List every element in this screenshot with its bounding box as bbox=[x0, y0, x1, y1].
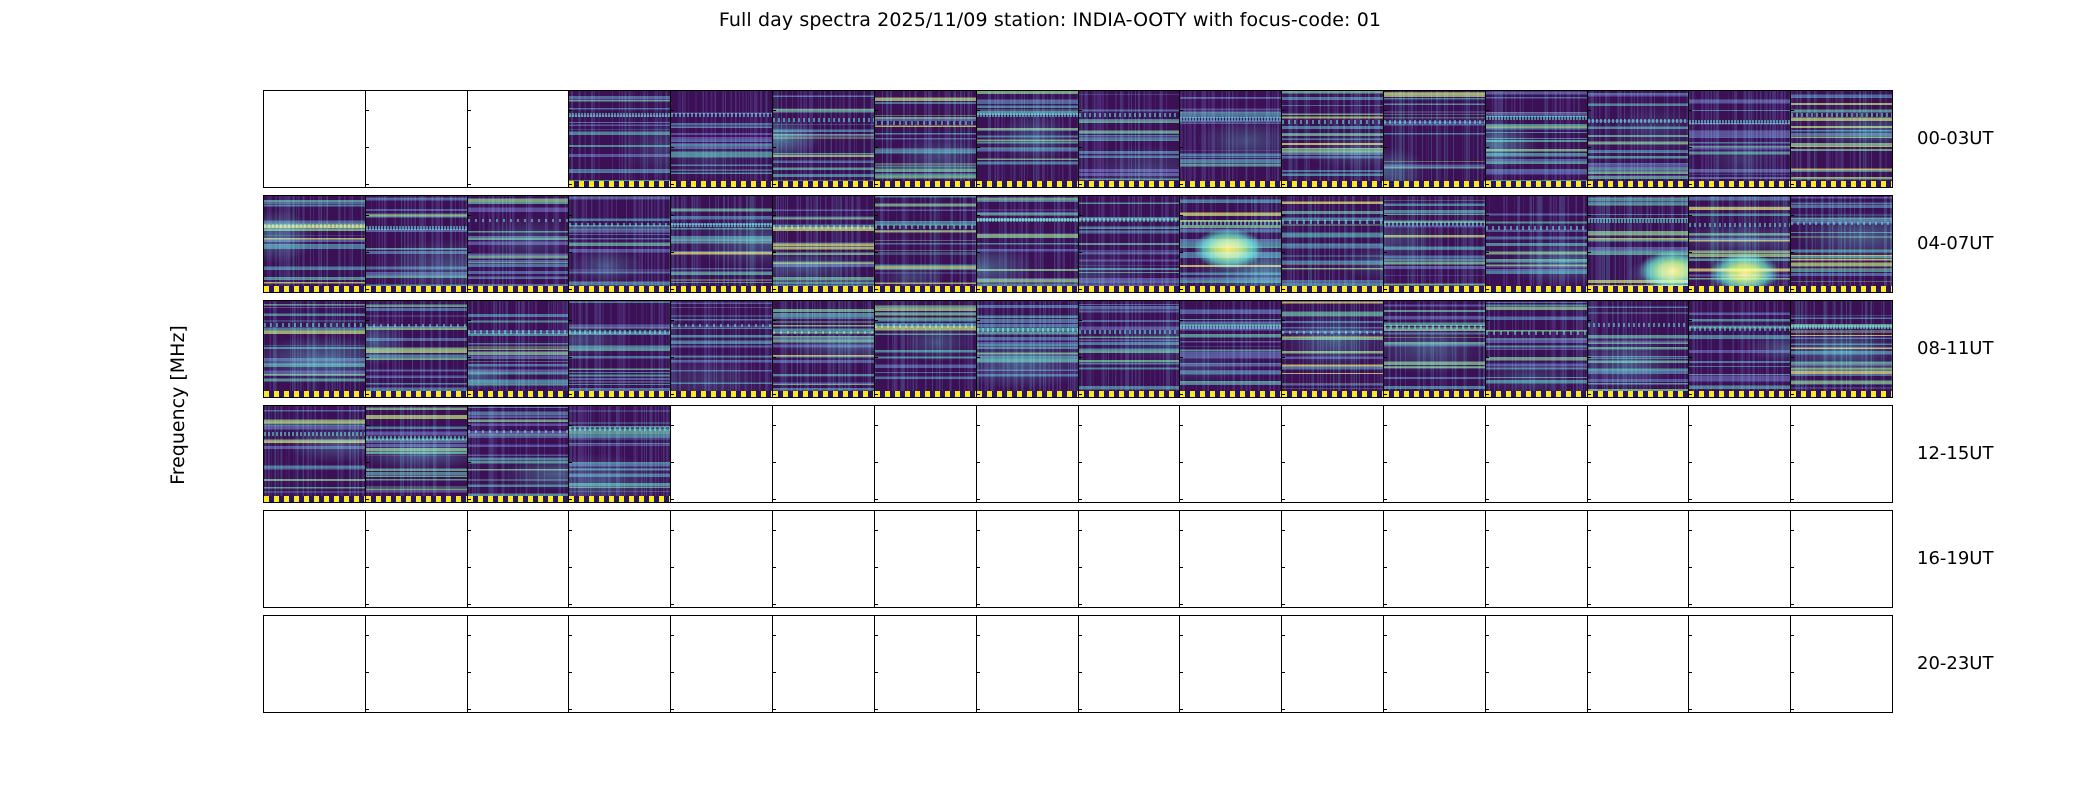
y-axis-tick bbox=[568, 394, 572, 395]
spectrogram-panel[interactable] bbox=[1281, 405, 1383, 503]
spectrogram-panel[interactable] bbox=[1688, 510, 1790, 608]
y-axis-tick bbox=[874, 462, 878, 463]
spectrogram-panel[interactable] bbox=[976, 300, 1078, 398]
spectrogram-panel[interactable] bbox=[1281, 195, 1383, 293]
y-axis-tick bbox=[1179, 394, 1183, 395]
row-time-range-label: 16-19UT bbox=[1917, 548, 1993, 569]
spectrogram-image bbox=[1384, 301, 1485, 397]
spectrogram-panel[interactable]: 45 bbox=[1790, 615, 1893, 713]
spectrogram-panel[interactable] bbox=[1383, 90, 1485, 188]
spectrogram-image bbox=[468, 406, 569, 502]
y-axis-tick bbox=[1587, 672, 1591, 673]
spectrogram-image bbox=[1689, 196, 1790, 292]
spectrogram-panel[interactable] bbox=[874, 195, 976, 293]
x-axis-tick bbox=[773, 607, 774, 608]
spectrogram-image bbox=[1384, 91, 1485, 187]
spectrogram-panel[interactable]: 45 bbox=[1383, 615, 1485, 713]
spectrogram-panel[interactable] bbox=[670, 510, 772, 608]
spectrogram-panel[interactable] bbox=[1179, 405, 1281, 503]
spectrogram-panel[interactable]: 15010050 bbox=[263, 90, 365, 188]
y-axis-tick bbox=[874, 147, 878, 148]
spectrogram-panel[interactable] bbox=[1485, 300, 1587, 398]
spectrogram-panel[interactable] bbox=[467, 300, 569, 398]
y-axis-tick bbox=[772, 499, 776, 500]
y-axis-tick bbox=[1790, 462, 1794, 463]
spectrogram-panel[interactable] bbox=[1383, 195, 1485, 293]
y-axis-tick bbox=[568, 289, 572, 290]
spectrogram-panel[interactable] bbox=[772, 510, 874, 608]
spectrogram-panel[interactable] bbox=[976, 195, 1078, 293]
y-axis-tick bbox=[1587, 215, 1591, 216]
spectrogram-panel[interactable] bbox=[1688, 195, 1790, 293]
spectrogram-panel[interactable] bbox=[1078, 405, 1180, 503]
y-axis-tick bbox=[1383, 184, 1387, 185]
x-axis-tick bbox=[1689, 397, 1690, 398]
x-axis-tick bbox=[671, 187, 672, 188]
spectrogram-panel[interactable] bbox=[365, 195, 467, 293]
y-axis-tick bbox=[1688, 394, 1692, 395]
spectrogram-row-08-11ut: 15010050 bbox=[263, 300, 1893, 398]
y-axis-tick bbox=[1281, 462, 1285, 463]
spectrogram-panel[interactable] bbox=[467, 405, 569, 503]
x-axis-tick bbox=[1486, 187, 1487, 188]
x-axis-tick: 00 bbox=[1486, 712, 1487, 713]
saturated-baseline-strip bbox=[1282, 391, 1383, 397]
y-axis-tick bbox=[1485, 567, 1489, 568]
y-axis-tick bbox=[1179, 604, 1183, 605]
y-axis-tick bbox=[1790, 672, 1794, 673]
spectrogram-panel[interactable]: 15010050 bbox=[263, 405, 365, 503]
y-axis-tick: 150 bbox=[263, 320, 264, 321]
y-axis-tick bbox=[1790, 110, 1794, 111]
y-axis-tick bbox=[568, 709, 572, 710]
y-axis-tick bbox=[1587, 320, 1591, 321]
y-axis-tick bbox=[365, 289, 369, 290]
spectrogram-image bbox=[773, 196, 874, 292]
y-axis-tick bbox=[1281, 672, 1285, 673]
y-axis-tick bbox=[1688, 530, 1692, 531]
y-axis-tick bbox=[772, 184, 776, 185]
y-axis-tick bbox=[467, 394, 471, 395]
spectrogram-panel[interactable] bbox=[568, 405, 670, 503]
saturated-baseline-strip bbox=[671, 286, 772, 292]
y-axis-tick bbox=[1078, 252, 1082, 253]
spectrogram-panel[interactable] bbox=[1281, 510, 1383, 608]
x-axis-tick: 00 bbox=[671, 712, 672, 713]
saturated-baseline-strip bbox=[569, 391, 670, 397]
x-axis-tick bbox=[875, 292, 876, 293]
y-axis-tick bbox=[1485, 394, 1489, 395]
spectrogram-panel[interactable] bbox=[772, 300, 874, 398]
spectrogram-panel[interactable] bbox=[1587, 300, 1689, 398]
spectrogram-panel[interactable] bbox=[365, 300, 467, 398]
y-axis-tick bbox=[1790, 604, 1794, 605]
spectrogram-panel[interactable]: 15 bbox=[1587, 615, 1689, 713]
spectrogram-image bbox=[1180, 196, 1281, 292]
spectrogram-panel[interactable] bbox=[1485, 405, 1587, 503]
spectrogram-panel[interactable] bbox=[1485, 510, 1587, 608]
spectrogram-panel[interactable] bbox=[1078, 300, 1180, 398]
y-axis-tick bbox=[467, 147, 471, 148]
x-axis-tick bbox=[773, 187, 774, 188]
y-axis-tick bbox=[467, 110, 471, 111]
saturated-baseline-strip bbox=[569, 496, 670, 502]
x-axis-tick bbox=[569, 187, 570, 188]
y-axis-tick bbox=[670, 499, 674, 500]
x-axis-tick bbox=[1384, 607, 1385, 608]
saturated-baseline-strip bbox=[671, 181, 772, 187]
y-axis-tick: 150 bbox=[263, 215, 264, 216]
panel-strip: 15010050 bbox=[263, 90, 1893, 188]
y-axis-tick bbox=[976, 567, 980, 568]
y-axis-tick bbox=[976, 357, 980, 358]
x-axis-tick bbox=[1689, 607, 1690, 608]
spectrogram-panel[interactable]: 15010050 bbox=[263, 300, 365, 398]
spectrogram-panel[interactable] bbox=[1281, 300, 1383, 398]
y-axis-tick bbox=[1383, 672, 1387, 673]
y-axis-tick bbox=[976, 672, 980, 673]
y-axis-tick bbox=[976, 635, 980, 636]
row-time-range-label: 20-23UT bbox=[1917, 653, 1993, 674]
y-axis-tick bbox=[772, 567, 776, 568]
spectrogram-panel[interactable]: 45 bbox=[976, 615, 1078, 713]
x-axis-tick: 30 bbox=[875, 712, 876, 713]
spectrogram-panel[interactable] bbox=[874, 405, 976, 503]
spectrogram-panel[interactable]: 15010050 bbox=[263, 195, 365, 293]
saturated-baseline-strip bbox=[977, 286, 1078, 292]
spectrogram-panel[interactable] bbox=[1587, 405, 1689, 503]
row-time-range-label: 12-15UT bbox=[1917, 443, 1993, 464]
spectrogram-panel[interactable] bbox=[874, 90, 976, 188]
spectrogram-panel[interactable] bbox=[976, 510, 1078, 608]
y-axis-tick: 100 bbox=[263, 147, 264, 148]
y-axis-tick bbox=[772, 147, 776, 148]
y-axis-tick bbox=[1281, 635, 1285, 636]
spectrogram-image bbox=[1791, 91, 1892, 187]
spectrogram-panel[interactable] bbox=[467, 195, 569, 293]
spectrogram-panel[interactable] bbox=[670, 300, 772, 398]
y-axis-tick bbox=[670, 357, 674, 358]
spectrogram-panel[interactable] bbox=[772, 195, 874, 293]
spectrogram-panel[interactable] bbox=[874, 300, 976, 398]
spectrogram-panel[interactable] bbox=[1587, 510, 1689, 608]
y-axis-tick bbox=[976, 147, 980, 148]
spectrogram-row-16-19ut: 15010050 bbox=[263, 510, 1893, 608]
spectrogram-panel[interactable] bbox=[1179, 510, 1281, 608]
spectrogram-panel[interactable] bbox=[670, 195, 772, 293]
y-axis-tick: 50 bbox=[263, 604, 264, 605]
spectrogram-panel[interactable]: 15 bbox=[772, 615, 874, 713]
spectrogram-panel[interactable] bbox=[1281, 90, 1383, 188]
x-axis-tick bbox=[1588, 607, 1589, 608]
spectrogram-panel[interactable]: 15010050 bbox=[263, 510, 365, 608]
spectrogram-panel[interactable]: 30 bbox=[467, 615, 569, 713]
y-axis-tick bbox=[1383, 357, 1387, 358]
spectrogram-panel[interactable]: 30 bbox=[874, 615, 976, 713]
x-axis-tick bbox=[468, 292, 469, 293]
y-axis-tick bbox=[1485, 320, 1489, 321]
y-axis-tick bbox=[1383, 320, 1387, 321]
spectrogram-panel[interactable] bbox=[1587, 195, 1689, 293]
x-axis-tick bbox=[1384, 502, 1385, 503]
spectrogram-panel[interactable] bbox=[976, 405, 1078, 503]
y-axis-tick bbox=[976, 394, 980, 395]
spectrogram-panel[interactable] bbox=[365, 405, 467, 503]
y-axis-tick bbox=[976, 462, 980, 463]
y-axis-tick bbox=[568, 604, 572, 605]
y-axis-tick bbox=[1485, 184, 1489, 185]
spectrogram-image bbox=[773, 301, 874, 397]
y-axis-tick bbox=[1587, 394, 1591, 395]
row-time-range-label: 04-07UT bbox=[1917, 233, 1993, 254]
spectrogram-image bbox=[671, 301, 772, 397]
y-axis-tick bbox=[1587, 635, 1591, 636]
x-axis-tick bbox=[1282, 607, 1283, 608]
saturated-baseline-strip bbox=[977, 181, 1078, 187]
x-axis-tick bbox=[977, 292, 978, 293]
spectrogram-panel[interactable]: 00 bbox=[670, 615, 772, 713]
y-axis-tick bbox=[1790, 252, 1794, 253]
panel-strip: 1501005000153045001530450015304500153045 bbox=[263, 615, 1893, 713]
spectrogram-image bbox=[1588, 91, 1689, 187]
y-axis-tick bbox=[568, 147, 572, 148]
x-axis-tick bbox=[264, 607, 265, 608]
y-axis-tick bbox=[467, 289, 471, 290]
y-axis-tick bbox=[1281, 252, 1285, 253]
y-axis-tick bbox=[1078, 394, 1082, 395]
y-axis-tick: 50 bbox=[263, 394, 264, 395]
x-axis-tick bbox=[264, 502, 265, 503]
y-axis-tick bbox=[670, 215, 674, 216]
y-axis-tick bbox=[1485, 147, 1489, 148]
y-axis-tick bbox=[1179, 184, 1183, 185]
spectrogram-panel[interactable] bbox=[772, 90, 874, 188]
spectrogram-panel[interactable] bbox=[1485, 90, 1587, 188]
x-axis-tick bbox=[671, 607, 672, 608]
spectrogram-image bbox=[468, 301, 569, 397]
x-axis-tick bbox=[1282, 187, 1283, 188]
x-axis-tick bbox=[671, 292, 672, 293]
y-axis-tick bbox=[772, 320, 776, 321]
y-axis-tick bbox=[1485, 635, 1489, 636]
spectrogram-image bbox=[468, 196, 569, 292]
spectrogram-panel[interactable] bbox=[568, 90, 670, 188]
spectrogram-panel[interactable] bbox=[1587, 90, 1689, 188]
spectrogram-panel[interactable] bbox=[1790, 90, 1893, 188]
spectrogram-panel[interactable] bbox=[568, 195, 670, 293]
y-axis-tick bbox=[568, 462, 572, 463]
x-axis-tick bbox=[1384, 292, 1385, 293]
y-axis-tick: 150 bbox=[263, 110, 264, 111]
spectrogram-panel[interactable] bbox=[1790, 510, 1893, 608]
x-axis-tick bbox=[1689, 502, 1690, 503]
y-axis-tick bbox=[976, 110, 980, 111]
spectrogram-image bbox=[264, 196, 365, 292]
x-axis-tick bbox=[569, 397, 570, 398]
saturated-baseline-strip bbox=[1079, 391, 1180, 397]
spectrogram-panel[interactable] bbox=[1078, 90, 1180, 188]
spectrogram-panel[interactable] bbox=[365, 510, 467, 608]
y-axis-tick bbox=[670, 394, 674, 395]
y-axis-tick bbox=[1688, 215, 1692, 216]
x-axis-tick bbox=[1282, 292, 1283, 293]
saturated-baseline-strip bbox=[1588, 391, 1689, 397]
y-axis-tick bbox=[670, 604, 674, 605]
y-axis-tick bbox=[365, 709, 369, 710]
spectrogram-image bbox=[1486, 301, 1587, 397]
y-axis-tick bbox=[874, 252, 878, 253]
x-axis-tick bbox=[671, 397, 672, 398]
y-axis-tick bbox=[1485, 357, 1489, 358]
spectrogram-panel[interactable] bbox=[670, 90, 772, 188]
saturated-baseline-strip bbox=[773, 181, 874, 187]
spectrogram-image bbox=[1791, 301, 1892, 397]
spectrogram-panel[interactable] bbox=[1790, 195, 1893, 293]
x-axis-tick bbox=[366, 397, 367, 398]
y-axis-tick bbox=[772, 357, 776, 358]
x-axis-tick bbox=[977, 397, 978, 398]
x-axis-tick: 15 bbox=[1180, 712, 1181, 713]
saturated-baseline-strip bbox=[1791, 286, 1892, 292]
y-axis-tick bbox=[1281, 425, 1285, 426]
y-axis-tick bbox=[1688, 147, 1692, 148]
y-axis-tick bbox=[467, 184, 471, 185]
spectrogram-panel[interactable] bbox=[1383, 300, 1485, 398]
spectrogram-panel[interactable] bbox=[1078, 510, 1180, 608]
saturated-baseline-strip bbox=[1384, 391, 1485, 397]
y-axis-tick bbox=[1281, 147, 1285, 148]
saturated-baseline-strip bbox=[1282, 286, 1383, 292]
y-axis-tick bbox=[976, 320, 980, 321]
y-axis-tick bbox=[772, 215, 776, 216]
spectrogram-panel[interactable] bbox=[467, 510, 569, 608]
saturated-baseline-strip bbox=[1791, 181, 1892, 187]
spectrogram-panel[interactable] bbox=[1383, 405, 1485, 503]
spectrogram-panel[interactable] bbox=[874, 510, 976, 608]
spectrogram-panel[interactable] bbox=[1688, 90, 1790, 188]
saturated-baseline-strip bbox=[1486, 181, 1587, 187]
y-axis-tick bbox=[365, 635, 369, 636]
spectrogram-image bbox=[569, 301, 670, 397]
spectrogram-panel[interactable] bbox=[1688, 405, 1790, 503]
y-axis-tick bbox=[1587, 252, 1591, 253]
y-axis-tick bbox=[1383, 289, 1387, 290]
spectrogram-image bbox=[1486, 196, 1587, 292]
spectrogram-panel[interactable]: 15 bbox=[365, 615, 467, 713]
y-axis-tick bbox=[467, 672, 471, 673]
y-axis-tick bbox=[1485, 604, 1489, 605]
spectrogram-panel[interactable] bbox=[1790, 405, 1893, 503]
y-axis-tick: 50 bbox=[263, 289, 264, 290]
y-axis-tick bbox=[1688, 320, 1692, 321]
y-axis-tick bbox=[1688, 604, 1692, 605]
x-axis-tick bbox=[977, 607, 978, 608]
panel-strip: 15010050 bbox=[263, 300, 1893, 398]
spectrogram-panel[interactable] bbox=[467, 90, 569, 188]
spectrogram-figure: Full day spectra 2025/11/09 station: IND… bbox=[0, 0, 2100, 800]
spectrogram-panel[interactable]: 45 bbox=[568, 615, 670, 713]
spectrogram-panel[interactable] bbox=[1485, 195, 1587, 293]
saturated-baseline-strip bbox=[1791, 391, 1892, 397]
y-axis-tick bbox=[1790, 499, 1794, 500]
y-axis-tick bbox=[1078, 357, 1082, 358]
spectrogram-panel[interactable] bbox=[568, 300, 670, 398]
y-axis-tick bbox=[772, 289, 776, 290]
spectrogram-panel[interactable] bbox=[365, 90, 467, 188]
spectrogram-panel[interactable] bbox=[1078, 195, 1180, 293]
y-axis-tick bbox=[1587, 425, 1591, 426]
spectrogram-panel[interactable] bbox=[1383, 510, 1485, 608]
y-axis-tick bbox=[772, 394, 776, 395]
spectrogram-panel[interactable]: 15 bbox=[1179, 615, 1281, 713]
y-axis-tick: 50 bbox=[263, 184, 264, 185]
y-axis-tick bbox=[1485, 709, 1489, 710]
spectrogram-panel[interactable] bbox=[772, 405, 874, 503]
y-axis-tick bbox=[874, 394, 878, 395]
spectrogram-panel[interactable] bbox=[1179, 90, 1281, 188]
spectrogram-panel[interactable] bbox=[670, 405, 772, 503]
x-axis-tick bbox=[1791, 502, 1792, 503]
y-axis-tick bbox=[1281, 604, 1285, 605]
y-axis-tick bbox=[467, 530, 471, 531]
y-axis-tick bbox=[1179, 462, 1183, 463]
spectrogram-panel[interactable] bbox=[1179, 195, 1281, 293]
y-axis-tick: 100 bbox=[263, 357, 264, 358]
spectrogram-panel[interactable] bbox=[1688, 300, 1790, 398]
spectrogram-panel[interactable]: 30 bbox=[1688, 615, 1790, 713]
spectrogram-image bbox=[1180, 91, 1281, 187]
spectrogram-image bbox=[264, 406, 365, 502]
y-axis-tick bbox=[1281, 709, 1285, 710]
y-axis-tick bbox=[1688, 462, 1692, 463]
spectrogram-panel[interactable]: 1501005000 bbox=[263, 615, 365, 713]
x-axis-tick bbox=[1689, 187, 1690, 188]
y-axis-tick bbox=[568, 530, 572, 531]
x-axis-tick bbox=[366, 607, 367, 608]
spectrogram-panel[interactable]: 30 bbox=[1281, 615, 1383, 713]
y-axis-tick: 50 bbox=[263, 709, 264, 710]
spectrogram-panel[interactable] bbox=[568, 510, 670, 608]
x-axis-tick: 45 bbox=[1384, 712, 1385, 713]
y-axis-tick bbox=[1281, 499, 1285, 500]
y-axis-tick bbox=[670, 320, 674, 321]
y-axis-tick bbox=[1485, 499, 1489, 500]
y-axis-tick bbox=[874, 604, 878, 605]
spectrogram-panel[interactable] bbox=[1790, 300, 1893, 398]
y-axis-tick bbox=[1587, 567, 1591, 568]
x-axis-tick bbox=[1384, 187, 1385, 188]
x-axis-tick bbox=[1791, 292, 1792, 293]
x-axis-tick bbox=[773, 397, 774, 398]
y-axis-tick bbox=[1179, 709, 1183, 710]
y-axis-tick bbox=[874, 567, 878, 568]
spectrogram-image bbox=[264, 301, 365, 397]
spectrogram-panel[interactable]: 00 bbox=[1485, 615, 1587, 713]
spectrogram-panel[interactable] bbox=[1179, 300, 1281, 398]
y-axis-tick bbox=[874, 425, 878, 426]
y-axis-tick bbox=[1078, 320, 1082, 321]
spectrogram-image bbox=[671, 196, 772, 292]
x-axis-tick: 15 bbox=[773, 712, 774, 713]
y-axis-tick bbox=[365, 425, 369, 426]
y-axis-tick bbox=[1587, 499, 1591, 500]
spectrogram-panel[interactable] bbox=[976, 90, 1078, 188]
panel-strip: 15010050 bbox=[263, 405, 1893, 503]
y-axis-tick bbox=[874, 709, 878, 710]
x-axis-tick bbox=[1079, 607, 1080, 608]
spectrogram-panel[interactable]: 00 bbox=[1078, 615, 1180, 713]
x-axis-tick bbox=[1588, 292, 1589, 293]
